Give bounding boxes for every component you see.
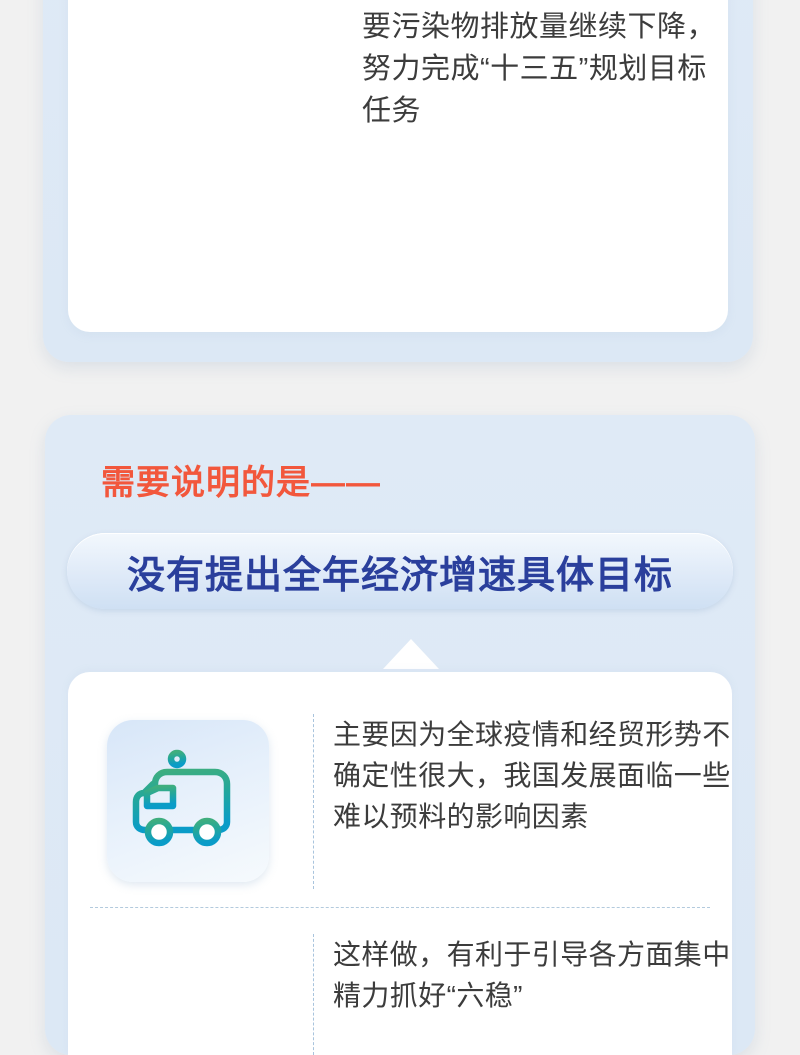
highlight-pill-label: 没有提出全年经济增速具体目标 [127,544,673,599]
vertical-dashed-rule [313,934,314,1055]
list-item: 单位国内生产总值能耗和主要污染物排放量继续下降，努力完成“十三五”规划目标任务 [336,0,736,132]
section-one-outer-card: 脱贫、贫困县全部摘帽 重大金融风险有效防控 单位国内生产总值能耗和主要污染物排放… [43,0,753,362]
explanation-paragraph: 这样做，有利于引导各方面集中精力抓好“六稳” [313,934,733,1055]
explanation-paragraph: 主要因为全球疫情和经贸形势不确定性很大，我国发展面临一些难以预料的影响因素 [313,714,733,889]
list-item-label: 单位国内生产总值能耗和主要污染物排放量继续下降，努力完成“十三五”规划目标任务 [362,0,736,132]
infographic-page: 脱贫、贫困县全部摘帽 重大金融风险有效防控 单位国内生产总值能耗和主要污染物排放… [0,0,800,1000]
vertical-dashed-rule [313,714,314,889]
dashed-divider [90,907,710,908]
section-one-inner-card: 脱贫、贫困县全部摘帽 重大金融风险有效防控 单位国内生产总值能耗和主要污染物排放… [68,0,728,332]
ambulance-icon [107,720,269,882]
section-two-outer-card: 需要说明的是—— 没有提出全年经济增速具体目标 [45,415,755,1055]
section-two-inner-card: 主要因为全球疫情和经贸形势不确定性很大，我国发展面临一些难以预料的影响因素 这样… [68,672,732,1055]
section-one-bullet-list: 脱贫、贫困县全部摘帽 重大金融风险有效防控 单位国内生产总值能耗和主要污染物排放… [336,0,736,132]
explanation-paragraph-text: 主要因为全球疫情和经贸形势不确定性很大，我国发展面临一些难以预料的影响因素 [333,714,733,889]
highlight-pill: 没有提出全年经济增速具体目标 [67,533,733,609]
explanation-paragraph-text: 这样做，有利于引导各方面集中精力抓好“六稳” [333,934,733,1055]
pill-pointer-notch [383,639,439,669]
section-two-heading: 需要说明的是—— [101,455,381,504]
